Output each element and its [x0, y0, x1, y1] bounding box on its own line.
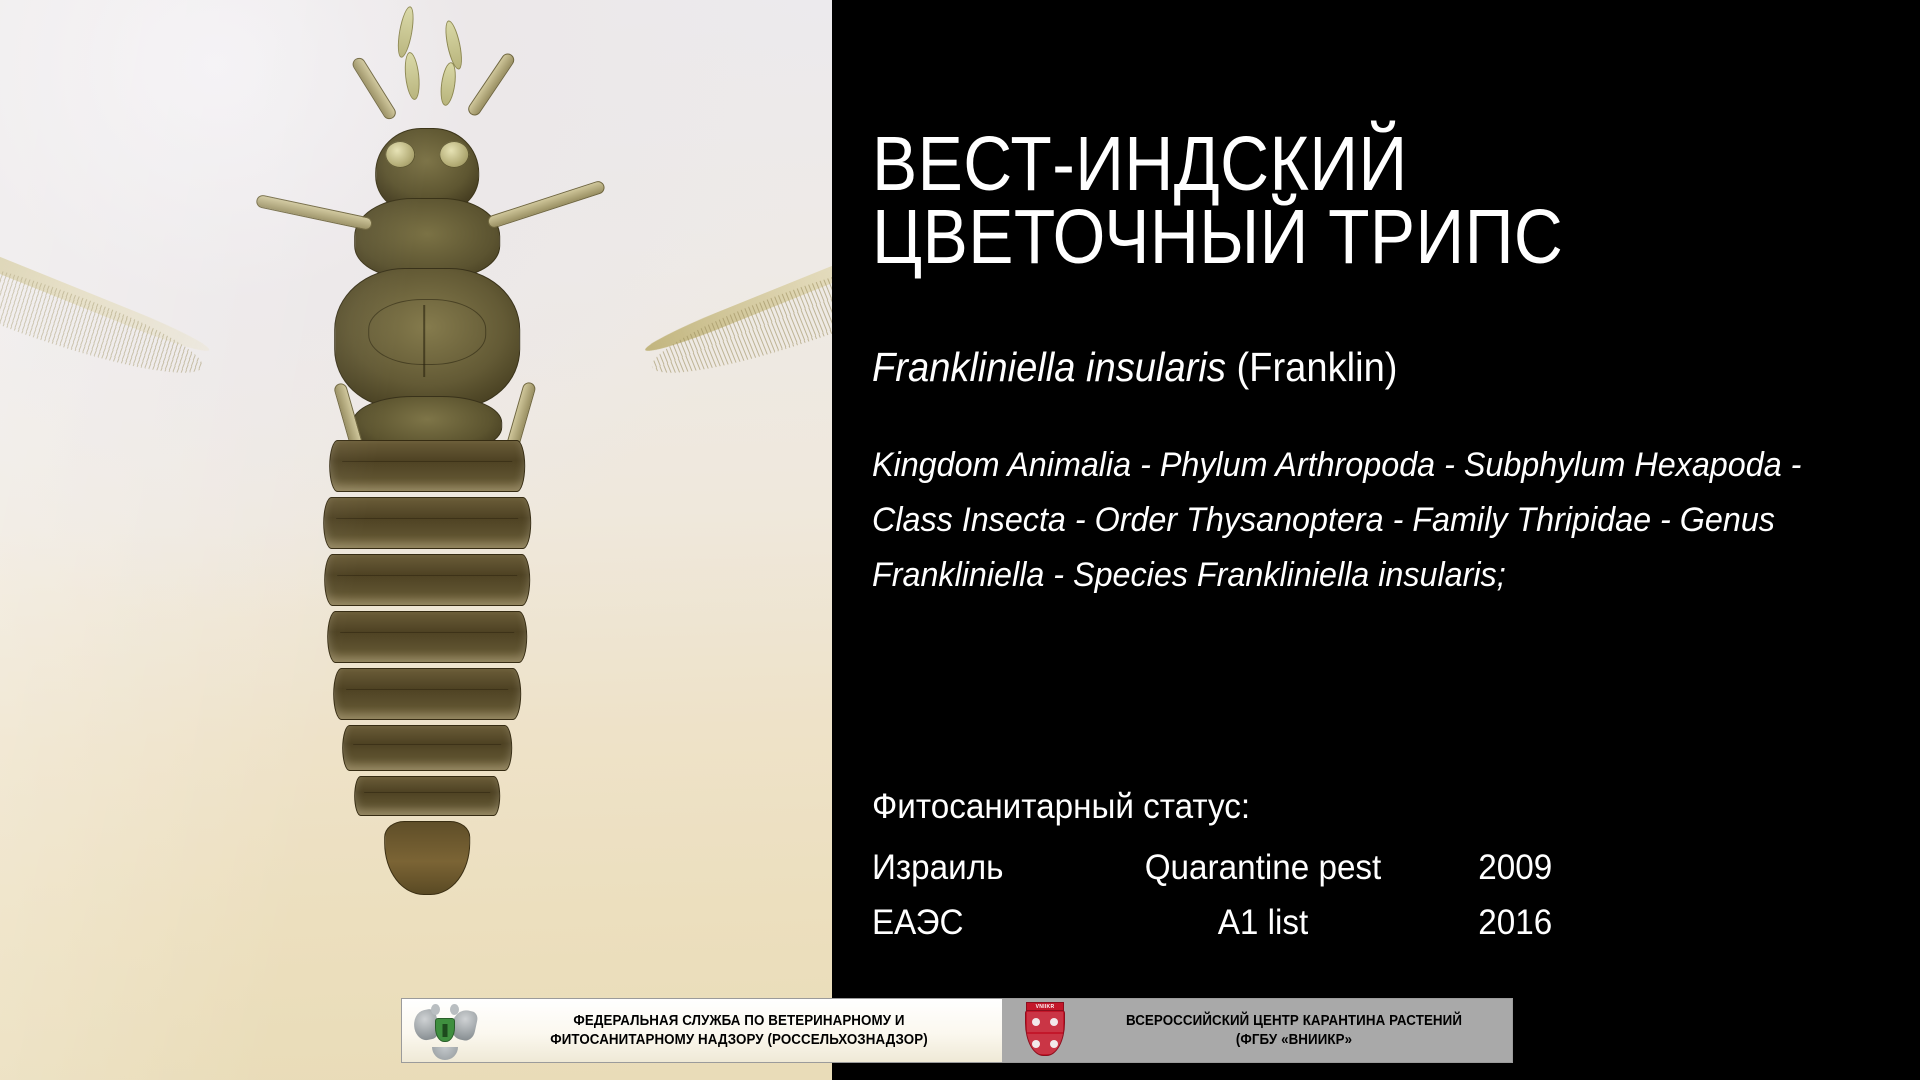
abdominal-tip	[384, 821, 470, 895]
antenna-left-icon	[395, 5, 417, 58]
status-year: 2016	[1410, 903, 1553, 943]
page-title: ВЕСТ-ИНДСКИЙ ЦВЕТОЧНЫЙ ТРИПС	[872, 128, 1752, 274]
vniikr-shield-icon: VNIIKR	[1014, 1002, 1076, 1060]
abdominal-segment	[323, 497, 531, 549]
vniikr-red-shield	[1025, 1010, 1065, 1056]
abdominal-segment	[324, 554, 530, 606]
thrips-illustration	[147, 0, 707, 1010]
vniikr-label: ВСЕРОССИЙСКИЙ ЦЕНТР КАРАНТИНА РАСТЕНИЙ (…	[1093, 1012, 1494, 1049]
antenna-right-icon	[438, 61, 458, 107]
forewing-right	[642, 219, 832, 357]
thrips-abdomen	[323, 440, 531, 895]
abdominal-segment	[354, 776, 500, 816]
footer-left-line2: ФИТОСАНИТАРНОМУ НАДЗОРУ (РОССЕЛЬХОЗНАДЗО…	[497, 1031, 981, 1050]
table-row: Израиль Quarantine pest 2009	[872, 848, 1572, 903]
compound-eye-right	[439, 141, 469, 168]
footer-left-line1: ФЕДЕРАЛЬНАЯ СЛУЖБА ПО ВЕТЕРИНАРНОМУ И	[497, 1012, 981, 1031]
eagle-tail	[432, 1047, 458, 1060]
abdominal-segment	[327, 611, 527, 663]
abdominal-segment	[329, 440, 525, 492]
eagle-head-right	[450, 1004, 459, 1015]
midleg-left-icon	[255, 194, 373, 231]
species-authority: (Franklin)	[1226, 344, 1398, 390]
eagle-green-shield	[435, 1018, 455, 1042]
wing-fringe-right	[643, 234, 832, 392]
status-region: ЕАЭС	[872, 903, 1108, 943]
footer-right-line1: ВСЕРОССИЙСКИЙ ЦЕНТР КАРАНТИНА РАСТЕНИЙ	[1093, 1012, 1494, 1031]
table-row: ЕАЭС A1 list 2016	[872, 903, 1572, 958]
compound-eye-left	[385, 141, 415, 168]
wing-fringe-left	[0, 234, 211, 392]
abdominal-segment	[342, 725, 513, 771]
shield-emblem-dot	[1050, 1018, 1058, 1026]
russian-double-headed-eagle-icon	[414, 1002, 476, 1060]
footer-banner: ФЕДЕРАЛЬНАЯ СЛУЖБА ПО ВЕТЕРИНАРНОМУ И ФИ…	[401, 998, 1513, 1063]
vniikr-block: VNIIKR ВСЕРОССИЙСКИЙ ЦЕНТР КАРАНТИНА РАС…	[1002, 999, 1512, 1062]
species-name: Frankliniella insularis (Franklin)	[872, 345, 1811, 391]
abdominal-segment	[334, 668, 521, 720]
thrips-pterothorax	[334, 268, 520, 408]
status-badge: A1 list	[1127, 903, 1399, 943]
antenna-left-icon	[403, 51, 422, 100]
midleg-right-icon	[486, 179, 606, 229]
thrips-specimen-photo	[0, 0, 832, 1080]
thrips-pronotum	[354, 198, 500, 278]
phytosanitary-status-heading: Фитосанитарный статус:	[872, 787, 1537, 827]
eagle-emblem-shape	[414, 1002, 476, 1060]
shield-emblem-dot	[1032, 1018, 1040, 1026]
eagle-head-left	[431, 1004, 440, 1015]
species-binomial: Frankliniella insularis	[872, 344, 1226, 390]
content-panel: ВЕСТ-ИНДСКИЙ ЦВЕТОЧНЫЙ ТРИПС Frankliniel…	[832, 0, 1920, 1080]
phytosanitary-status-table: Израиль Quarantine pest 2009 ЕАЭС A1 lis…	[872, 848, 1572, 958]
taxonomy-classification: Kingdom Animalia - Phylum Arthropoda - S…	[872, 438, 1841, 603]
rosselkhoznadzor-label: ФЕДЕРАЛЬНАЯ СЛУЖБА ПО ВЕТЕРИНАРНОМУ И ФИ…	[497, 1012, 981, 1049]
status-year: 2009	[1410, 848, 1553, 888]
status-badge: Quarantine pest	[1127, 848, 1399, 888]
foreleg-left-icon	[350, 55, 398, 121]
foreleg-right-icon	[466, 51, 517, 118]
shield-emblem-dot	[1032, 1040, 1040, 1048]
shield-emblem-dot	[1050, 1040, 1058, 1048]
rosselkhoznadzor-block: ФЕДЕРАЛЬНАЯ СЛУЖБА ПО ВЕТЕРИНАРНОМУ И ФИ…	[402, 999, 1002, 1062]
footer-right-line2: (ФГБУ «ВНИИКР»	[1093, 1031, 1494, 1050]
presentation-slide: ВЕСТ-ИНДСКИЙ ЦВЕТОЧНЫЙ ТРИПС Frankliniel…	[0, 0, 1920, 1080]
forewing-left	[0, 219, 212, 357]
status-region: Израиль	[872, 848, 1108, 888]
